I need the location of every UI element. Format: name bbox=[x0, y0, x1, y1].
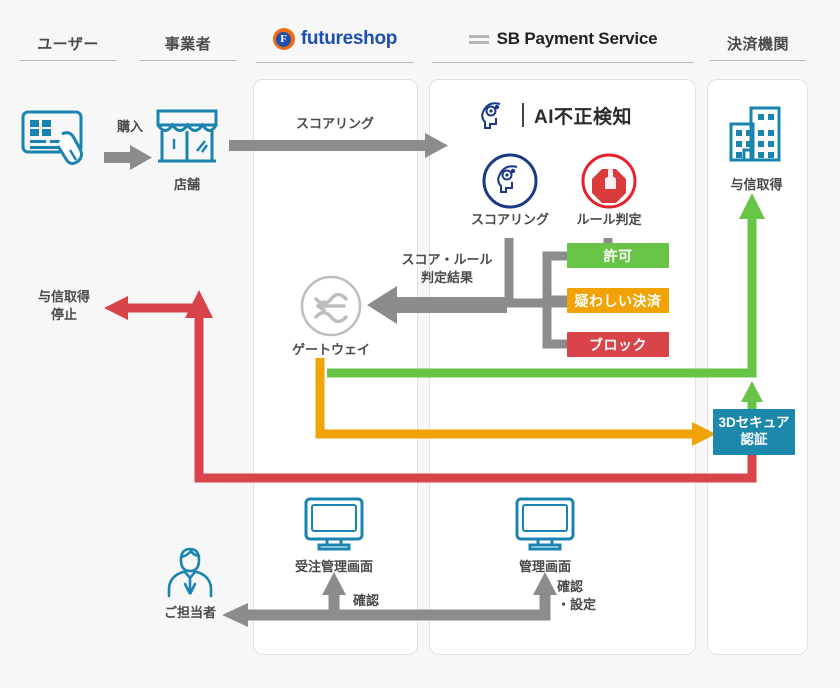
credit-acquire-label: 与信取得 bbox=[707, 176, 806, 194]
column-header-sbps-rule bbox=[432, 62, 694, 63]
order-admin-screen-label: 受注管理画面 bbox=[274, 558, 394, 576]
column-header-futureshop-rule bbox=[256, 62, 414, 63]
scoring-circle-icon bbox=[481, 152, 539, 210]
column-header-futureshop: F futureshop bbox=[256, 26, 414, 63]
column-header-acquirer-label: 決済機関 bbox=[710, 33, 806, 54]
ai-header-divider bbox=[522, 103, 524, 127]
rule-judgement-circle-label: ルール判定 bbox=[554, 211, 664, 229]
gateway-icon bbox=[300, 275, 362, 337]
store-label: 店舗 bbox=[157, 176, 217, 194]
result-chip-block: ブロック bbox=[567, 332, 669, 357]
store-icon bbox=[152, 105, 222, 165]
sbps-logo-text: SB Payment Service bbox=[497, 29, 658, 49]
three-d-secure-label-line1: 3Dセキュア bbox=[719, 415, 790, 432]
rule-judgement-circle-icon bbox=[580, 152, 638, 210]
acquirer-building-icon bbox=[727, 104, 783, 168]
purchase-label: 購入 bbox=[100, 118, 160, 136]
confirm-label: 確認 bbox=[336, 592, 396, 610]
person-icon bbox=[163, 544, 217, 600]
order-admin-screen-icon bbox=[303, 496, 365, 552]
futureshop-logo-icon: F bbox=[273, 28, 295, 50]
column-header-user-label: ユーザー bbox=[20, 33, 116, 54]
column-header-user: ユーザー bbox=[20, 33, 116, 61]
card-payment-icon bbox=[18, 104, 94, 168]
person-label: ご担当者 bbox=[148, 604, 232, 622]
sbps-logo-icon bbox=[469, 35, 489, 44]
confirm-setting-label-line1: 確認 bbox=[557, 578, 617, 596]
ai-head-gear-icon bbox=[478, 100, 512, 130]
arrow-block-red-head-up bbox=[185, 290, 213, 318]
column-header-merchant-rule bbox=[140, 60, 236, 61]
result-chip-suspect-label: 疑わしい決済 bbox=[575, 291, 662, 311]
admin-screen-label: 管理画面 bbox=[492, 558, 598, 576]
futureshop-logo-text: futureshop bbox=[301, 28, 397, 50]
arrow-purchase bbox=[104, 145, 152, 170]
column-header-acquirer: 決済機関 bbox=[710, 33, 806, 61]
scoring-circle-label: スコアリング bbox=[455, 211, 565, 229]
score-rule-result-label: スコア・ルール 判定結果 bbox=[382, 251, 512, 286]
futureshop-logo-letter: F bbox=[276, 32, 291, 47]
scoring-flow-label: スコアリング bbox=[270, 115, 400, 133]
score-rule-result-label-line2: 判定結果 bbox=[382, 269, 512, 287]
three-d-secure-label-line2: 認証 bbox=[741, 432, 768, 449]
ai-header-label: AI不正検知 bbox=[534, 102, 632, 129]
column-header-user-rule bbox=[20, 60, 116, 61]
diagram-canvas: ユーザー 事業者 F futureshop SB Payment Service… bbox=[0, 0, 840, 688]
credit-stop-label: 与信取得 停止 bbox=[14, 288, 114, 323]
result-chip-suspect: 疑わしい決済 bbox=[567, 288, 669, 313]
three-d-secure-box: 3Dセキュア 認証 bbox=[713, 409, 795, 455]
column-header-merchant: 事業者 bbox=[140, 33, 236, 61]
confirm-setting-label-line2: ・設定 bbox=[557, 596, 617, 614]
ai-fraud-detection-header: AI不正検知 bbox=[478, 100, 632, 130]
result-chip-allow-label: 許可 bbox=[604, 246, 633, 266]
credit-stop-label-line2: 停止 bbox=[14, 306, 114, 324]
column-header-merchant-label: 事業者 bbox=[140, 33, 236, 54]
result-chip-block-label: ブロック bbox=[589, 335, 647, 355]
gateway-label: ゲートウェイ bbox=[276, 341, 386, 359]
column-header-sbps: SB Payment Service bbox=[432, 26, 694, 63]
result-chip-allow: 許可 bbox=[567, 243, 669, 268]
credit-stop-label-line1: 与信取得 bbox=[14, 288, 114, 306]
admin-screen-icon bbox=[514, 496, 576, 552]
score-rule-result-label-line1: スコア・ルール bbox=[382, 251, 512, 269]
column-header-acquirer-rule bbox=[710, 60, 806, 61]
confirm-setting-label: 確認 ・設定 bbox=[557, 578, 617, 613]
